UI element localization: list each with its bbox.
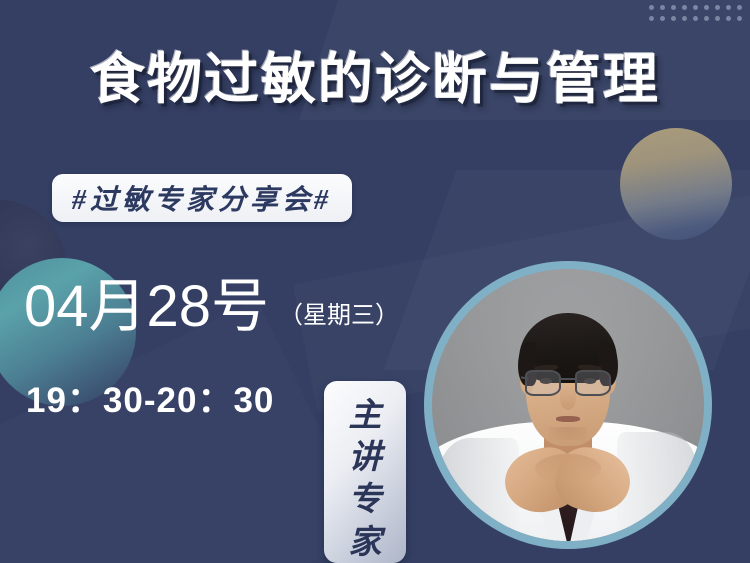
portrait-lens-right bbox=[575, 370, 611, 396]
grid-dot bbox=[649, 16, 654, 21]
event-date-row: 04月28号 （星期三） bbox=[24, 278, 399, 336]
hashtag-badge: #过敏专家分享会# bbox=[52, 174, 352, 222]
grid-dot bbox=[682, 16, 687, 21]
dot-grid-decoration bbox=[649, 5, 748, 27]
grid-dot bbox=[660, 16, 665, 21]
grid-dot bbox=[715, 16, 720, 21]
speaker-badge: 主 讲 专 家 bbox=[324, 381, 406, 563]
grid-dot bbox=[671, 16, 676, 21]
portrait-glasses-bridge bbox=[560, 378, 576, 380]
portrait-knuckles bbox=[535, 454, 600, 484]
grid-dot bbox=[693, 16, 698, 21]
grid-dot bbox=[693, 5, 698, 10]
grid-dot bbox=[660, 5, 665, 10]
grid-dot bbox=[704, 16, 709, 21]
poster-title: 食物过敏的诊断与管理 bbox=[0, 34, 750, 114]
grid-dot bbox=[726, 5, 731, 10]
grid-dot bbox=[715, 5, 720, 10]
speaker-badge-char: 家 bbox=[349, 522, 382, 563]
grid-dot bbox=[682, 5, 687, 10]
speaker-portrait bbox=[424, 261, 712, 549]
grid-dot bbox=[726, 16, 731, 21]
grid-dot bbox=[737, 5, 742, 10]
webinar-poster: 食物过敏的诊断与管理 #过敏专家分享会# 04月28号 （星期三） 19：30-… bbox=[0, 0, 750, 563]
speaker-badge-char: 主 bbox=[349, 395, 382, 437]
grid-dot bbox=[671, 5, 676, 10]
speaker-portrait-image bbox=[432, 269, 704, 541]
portrait-mouth bbox=[556, 416, 580, 421]
gold-circle-decoration bbox=[620, 128, 732, 240]
hashtag-label: #过敏专家分享会# bbox=[72, 178, 332, 218]
event-weekday: （星期三） bbox=[279, 295, 399, 336]
event-date: 04月28号 bbox=[24, 278, 269, 336]
portrait-lens-left bbox=[525, 370, 561, 396]
portrait-chin-shadow bbox=[549, 427, 587, 441]
event-time: 19：30-20：30 bbox=[26, 372, 274, 423]
grid-dot bbox=[737, 16, 742, 21]
speaker-badge-char: 讲 bbox=[349, 437, 382, 479]
grid-dot bbox=[704, 5, 709, 10]
grid-dot bbox=[649, 5, 654, 10]
speaker-badge-char: 专 bbox=[349, 479, 382, 521]
